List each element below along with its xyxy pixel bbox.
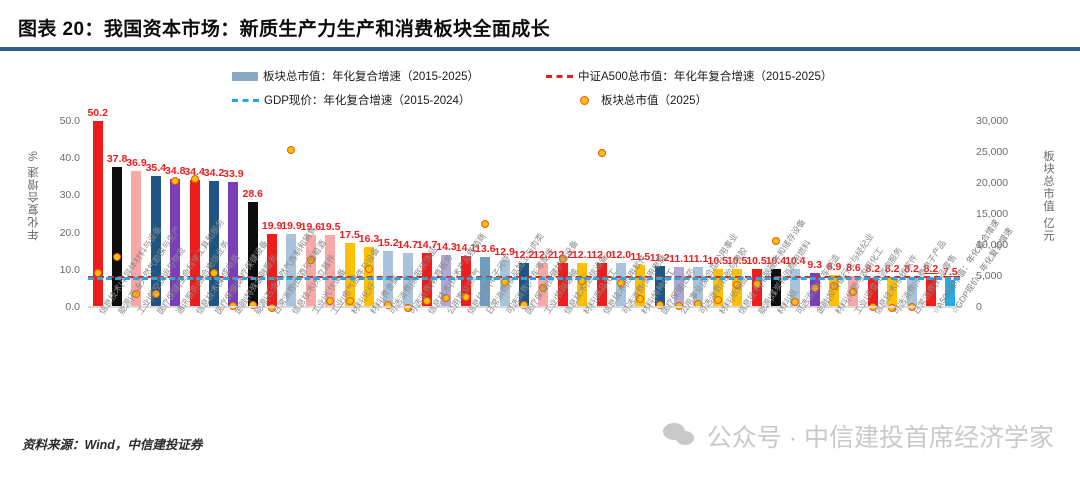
title-divider	[0, 47, 1080, 51]
bar-value-label: 19.5	[320, 221, 340, 233]
legend-label-scatter: 板块总市值（2025）	[601, 92, 707, 108]
scatter-dot-icon	[580, 96, 589, 105]
x-axis-labels: 信息技术|半导体材料与设备能源|石油天然气勘探与生产工业|航空货运与物流医疗保健…	[0, 308, 1080, 418]
bar-value-label: 37.8	[107, 153, 127, 165]
wechat-icon	[663, 423, 697, 449]
reference-line-gdp	[88, 277, 960, 280]
bar-value-label: 11.1	[688, 253, 708, 265]
bar-value-label: 34.2	[204, 167, 224, 179]
bar-value-label: 19.9	[281, 220, 301, 232]
bar-value-label: 50.2	[87, 107, 107, 119]
legend-item-bar-series: 板块总市值：年化复合增速（2015-2025）	[232, 68, 479, 84]
scatter-point	[481, 220, 489, 228]
source-note: 资料来源：Wind，中信建投证券	[22, 434, 202, 453]
scatter-point	[598, 149, 606, 157]
y-axis-title-right: 板块总市值 亿元	[1040, 150, 1056, 242]
bar-value-label: 33.9	[223, 168, 243, 180]
scatter-point	[171, 177, 179, 185]
y-tick-left: 40.0	[36, 152, 80, 164]
gdp-dash-icon	[232, 99, 259, 102]
scatter-point	[287, 146, 295, 154]
legend-label-gdp-line: GDP现价：年化复合增速（2015-2024）	[264, 92, 470, 108]
page-title: 图表 20：我国资本市场：新质生产力生产和消费板块全面成长	[18, 14, 550, 41]
legend-item-a500-line: 中证A500总市值：年化年复合增速（2015-2025）	[546, 68, 832, 84]
bar-value-label: 36.9	[126, 157, 146, 169]
y-tick-left: 10.0	[36, 264, 80, 276]
plot-area: 50.237.836.935.434.834.434.233.928.619.9…	[88, 122, 960, 308]
y-tick-right: 20,000	[976, 177, 1008, 189]
bar-value-label: 12.0	[611, 249, 631, 261]
a500-dash-icon	[546, 75, 573, 78]
legend-label-bar-series: 板块总市值：年化复合增速（2015-2025）	[263, 68, 479, 84]
scatter-point	[113, 253, 121, 261]
bar-value-label: 11.1	[669, 253, 689, 265]
bar-value-label: 35.4	[146, 162, 166, 174]
legend-label-a500-line: 中证A500总市值：年化年复合增速（2015-2025）	[578, 68, 832, 84]
scatter-point	[191, 175, 199, 183]
y-tick-right: 30,000	[976, 115, 1008, 127]
bar-value-label: 14.7	[398, 239, 418, 251]
bar-value-label: 28.6	[242, 188, 262, 200]
bar-value-label: 15.2	[378, 237, 398, 249]
chart-legend: 板块总市值：年化复合增速（2015-2025） GDP现价：年化复合增速（201…	[0, 66, 1080, 112]
watermark-text: 公众号 · 中信建投首席经济学家	[707, 418, 1054, 454]
y-tick-right: 25,000	[976, 146, 1008, 158]
watermark: 公众号 · 中信建投首席经济学家	[663, 418, 1054, 454]
legend-item-gdp-line: GDP现价：年化复合增速（2015-2024）	[232, 92, 470, 108]
y-tick-left: 50.0	[36, 115, 80, 127]
y-tick-left: 30.0	[36, 189, 80, 201]
legend-item-scatter: 板块总市值（2025）	[568, 92, 707, 108]
bar-value-label: 16.3	[359, 233, 379, 245]
bar-value-label: 17.5	[339, 229, 359, 241]
bar-swatch-icon	[232, 72, 258, 81]
y-tick-left: 20.0	[36, 227, 80, 239]
bar-value-label: 19.9	[262, 220, 282, 232]
bar-value-label: 34.8	[165, 165, 185, 177]
chart-title-bar: 图表 20：我国资本市场：新质生产力生产和消费板块全面成长	[0, 14, 1080, 48]
chart-page: { "title": "图表 20：我国资本市场：新质生产力生产和消费板块全面成…	[0, 0, 1080, 477]
